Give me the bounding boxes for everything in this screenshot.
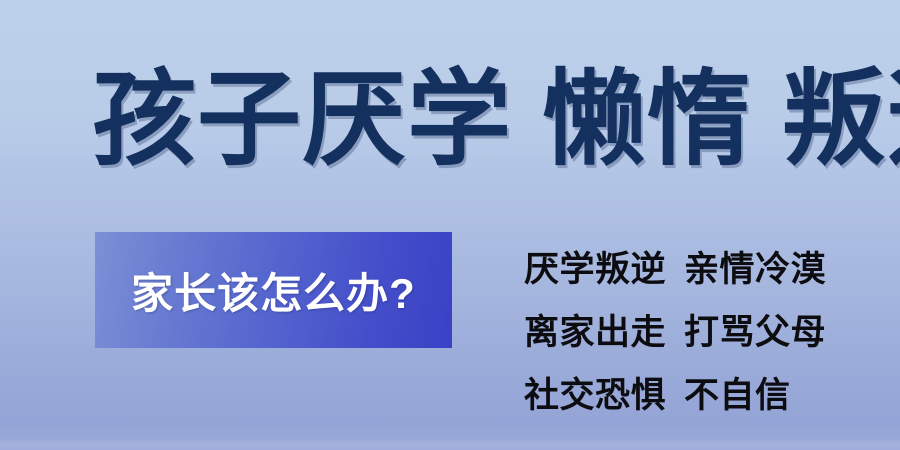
symptom-left-2: 社交恐惧 <box>524 376 666 415</box>
symptom-list-item: 离家出走打骂父母 <box>524 301 884 364</box>
symptom-list-item: 厌学叛逆亲情冷漠 <box>524 238 884 301</box>
symptom-right-0: 亲情冷漠 <box>684 250 826 289</box>
symptom-left-1: 离家出走 <box>524 313 666 352</box>
symptom-list: 厌学叛逆亲情冷漠 离家出走打骂父母 社交恐惧不自信 <box>524 238 884 427</box>
poster-canvas: 孩子厌学 懒惰 叛逆 家长该怎么办? 厌学叛逆亲情冷漠 离家出走打骂父母 社交恐… <box>0 0 900 450</box>
bottom-highlight-band <box>0 436 900 450</box>
call-to-action-badge: 家长该怎么办? <box>95 232 452 348</box>
symptom-right-2: 不自信 <box>684 376 791 415</box>
symptom-list-item: 社交恐惧不自信 <box>524 364 884 427</box>
symptom-right-1: 打骂父母 <box>684 313 826 352</box>
call-to-action-badge-label: 家长该怎么办? <box>131 260 416 321</box>
symptom-left-0: 厌学叛逆 <box>524 250 666 289</box>
poster-headline: 孩子厌学 懒惰 叛逆 <box>92 58 832 182</box>
